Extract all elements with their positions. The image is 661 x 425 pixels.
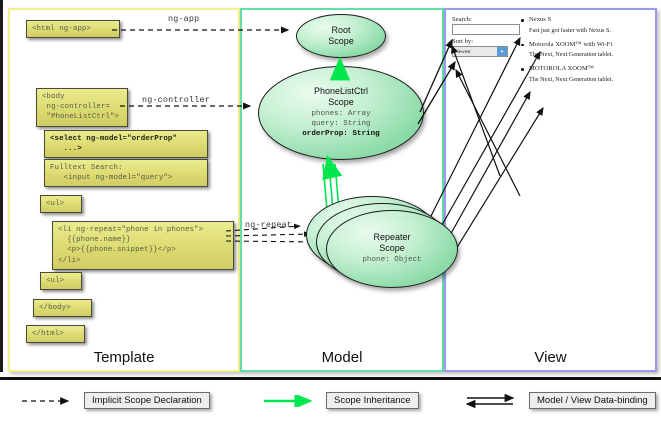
- legend-item-scope-inheritance: Scope Inheritance: [262, 392, 419, 409]
- legend-green-arrow-icon: [262, 395, 320, 407]
- panel-view-label: View: [446, 349, 655, 366]
- phone-snippet: The Next, Next Generation tablet.: [520, 76, 648, 83]
- panel-template: Template: [8, 8, 240, 372]
- connector-label-ng-app: ng-app: [168, 14, 199, 24]
- legend-label: Scope Inheritance: [326, 392, 419, 409]
- panel-model: Model: [240, 8, 444, 372]
- code-box-html-open: <html ng-app>: [26, 20, 120, 38]
- connector-label-ng-controller: ng-controller: [142, 95, 210, 105]
- legend-item-model-view-data-binding: Model / View Data-binding: [465, 392, 656, 409]
- legend-dashed-arrow-icon: [20, 395, 78, 407]
- scope-phonelistctrl-props: phones: Array query: String orderProp: S…: [302, 110, 379, 140]
- scope-repeater-props: phone: Object: [362, 256, 421, 266]
- legend-item-implicit-scope-declaration: Implicit Scope Declaration: [20, 392, 210, 409]
- phone-name: Nexus S: [520, 16, 648, 23]
- legend-label: Model / View Data-binding: [529, 392, 656, 409]
- code-box-body-close: </body>: [33, 299, 92, 317]
- scope-phonelistctrl-title: PhoneListCtrl Scope: [314, 86, 368, 107]
- code-box-ul-close: <ul>: [40, 272, 82, 290]
- legend-double-arrow-icon: [465, 393, 523, 409]
- panel-template-label: Template: [10, 349, 238, 366]
- search-input[interactable]: [452, 24, 520, 35]
- scope-root-title: Root Scope: [328, 25, 354, 46]
- phone-name: MOTOROLA XOOM™: [520, 65, 648, 72]
- code-box-select-orderprop: <select ng-model="orderProp" ...>: [44, 130, 208, 158]
- phone-list: Nexus S Fast just got faster with Nexus …: [520, 16, 648, 90]
- phone-snippet: The Next, Next Generation tablet.: [520, 51, 648, 58]
- scope-repeater-title: Repeater Scope: [373, 232, 410, 253]
- diagram-canvas: Template Model View <html ng-app> <body …: [0, 0, 661, 425]
- legend: Implicit Scope Declaration Scope Inherit…: [0, 384, 661, 424]
- phone-snippet: Fast just got faster with Nexus S.: [520, 27, 648, 34]
- view-app-preview: Search: Sort by: Newest ▾ Nexus S Fast j…: [452, 16, 648, 346]
- scope-repeater: Repeater Scope phone: Object: [326, 210, 458, 288]
- scope-root: Root Scope: [296, 14, 386, 58]
- panel-model-label: Model: [242, 349, 442, 366]
- code-box-ul-open: <ul>: [40, 195, 82, 213]
- code-box-fulltext-search: Fulltext Search: <input ng-model="query"…: [44, 159, 208, 187]
- list-item: Nexus S Fast just got faster with Nexus …: [520, 16, 648, 34]
- legend-label: Implicit Scope Declaration: [84, 392, 210, 409]
- scope-phonelistctrl: PhoneListCtrl Scope phones: Array query:…: [258, 66, 424, 160]
- sort-select-value: Newest: [455, 49, 471, 55]
- legend-divider: [0, 377, 661, 380]
- sort-select[interactable]: Newest ▾: [452, 46, 508, 57]
- connector-label-ng-repeat: ng-repeat: [245, 220, 292, 230]
- chevron-down-icon: ▾: [497, 47, 507, 56]
- canvas-left-edge: [0, 0, 3, 372]
- list-item: MOTOROLA XOOM™ The Next, Next Generation…: [520, 65, 648, 83]
- phone-name: Motorola XOOM™ with Wi-Fi: [520, 41, 648, 48]
- code-box-li-ngrepeat: <li ng-repeat="phone in phones"> {{phone…: [52, 221, 234, 270]
- list-item: Motorola XOOM™ with Wi-Fi The Next, Next…: [520, 41, 648, 59]
- code-box-body-open: <body ng-controller= "PhoneListCtrl">: [36, 88, 128, 127]
- code-box-html-close: </html>: [26, 325, 85, 343]
